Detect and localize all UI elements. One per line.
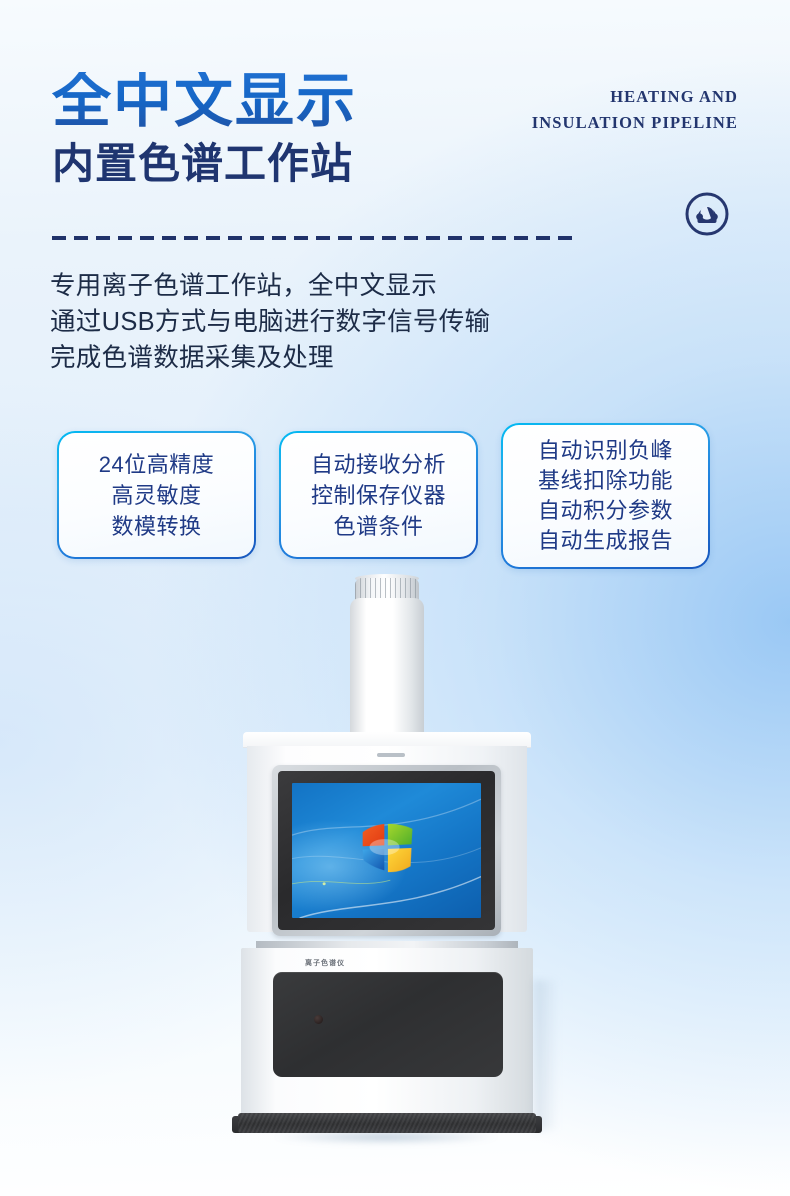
feature-card-precision: 24位高精度 高灵敏度 数模转换 xyxy=(57,431,256,559)
english-line-1: HEATING AND xyxy=(458,84,738,110)
upper-unit-slot xyxy=(377,753,405,757)
description-line-1: 专用离子色谱工作站，全中文显示 xyxy=(50,268,650,304)
feature-line: 色谱条件 xyxy=(333,511,423,542)
feature-line: 自动接收分析 xyxy=(311,449,446,480)
feature-box-group: 24位高精度 高灵敏度 数模转换 自动接收分析 控制保存仪器 色谱条件 自动识别… xyxy=(57,417,733,569)
feature-line: 高灵敏度 xyxy=(111,480,201,511)
cabinet-knob xyxy=(314,1015,323,1024)
feature-line: 自动生成报告 xyxy=(538,526,673,556)
page-title: 全中文显示 内置色谱工作站 xyxy=(52,72,472,185)
title-line-1: 全中文显示 xyxy=(52,72,472,131)
title-line-2: 内置色谱工作站 xyxy=(52,143,472,185)
feature-line: 24位高精度 xyxy=(99,449,214,480)
product-brand-label: 离子色谱仪 xyxy=(305,958,375,969)
cabinet-door-panel xyxy=(273,972,503,1077)
dashed-divider xyxy=(52,236,572,240)
product-image-ion-chromatograph: 离子色谱仪 xyxy=(0,560,790,1196)
monitor-inner-frame xyxy=(278,771,495,930)
description-line-2: 通过USB方式与电脑进行数字信号传输 xyxy=(50,304,650,340)
feature-line: 自动识别负峰 xyxy=(538,436,673,466)
product-base xyxy=(238,1113,536,1133)
monitor-screen xyxy=(292,783,481,918)
english-line-2: INSULATION PIPELINE xyxy=(458,110,738,136)
headset-in-circle-icon xyxy=(683,190,731,238)
feature-card-acquisition: 自动接收分析 控制保存仪器 色谱条件 xyxy=(279,431,478,559)
monitor-bezel xyxy=(272,765,501,936)
feature-line: 控制保存仪器 xyxy=(311,480,446,511)
english-subtitle: HEATING AND INSULATION PIPELINE xyxy=(458,84,738,135)
description-line-3: 完成色谱数据采集及处理 xyxy=(50,340,650,376)
promo-page: 全中文显示 内置色谱工作站 HEATING AND INSULATION PIP… xyxy=(0,0,790,1196)
cabinet-side-glow xyxy=(534,980,558,1130)
feature-line: 基线扣除功能 xyxy=(538,466,673,496)
feature-card-analysis: 自动识别负峰 基线扣除功能 自动积分参数 自动生成报告 xyxy=(501,423,710,569)
feature-line: 数模转换 xyxy=(111,511,201,542)
description-block: 专用离子色谱工作站，全中文显示 通过USB方式与电脑进行数字信号传输 完成色谱数… xyxy=(50,268,650,376)
column-body xyxy=(350,598,424,736)
mid-shelf-lower xyxy=(256,941,518,948)
windows-logo-icon xyxy=(360,822,414,873)
feature-line: 自动积分参数 xyxy=(538,496,673,526)
